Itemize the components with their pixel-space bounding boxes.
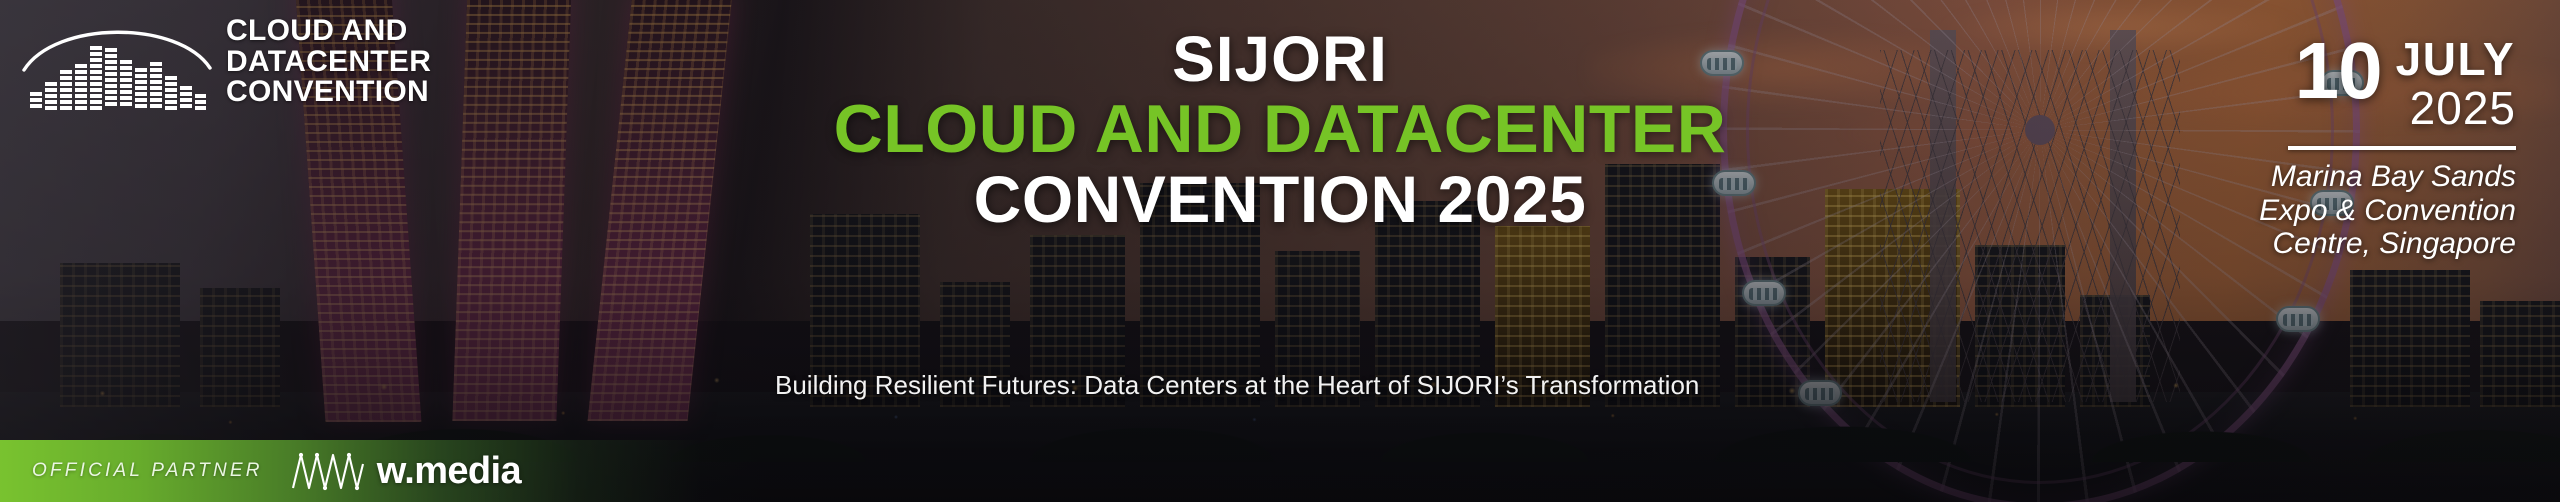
- venue-line-3: Centre, Singapore: [2046, 227, 2516, 261]
- event-venue: Marina Bay Sands Expo & Convention Centr…: [2046, 160, 2516, 261]
- event-year: 2025: [2410, 84, 2516, 132]
- wmedia-logo[interactable]: w.media: [289, 450, 521, 493]
- event-month: JULY: [2396, 36, 2516, 82]
- logo-line-2: DATACENTER: [226, 47, 431, 78]
- skyline-bars-arc-icon: [22, 12, 212, 112]
- event-banner: CLOUD AND DATACENTER CONVENTION SIJORI C…: [0, 0, 2560, 502]
- logo-line-1: CLOUD AND: [226, 16, 431, 47]
- event-date: 10 JULY 2025: [2046, 34, 2516, 132]
- official-partner-bar: OFFICIAL PARTNER w.media: [0, 440, 760, 502]
- official-partner-label: OFFICIAL PARTNER: [32, 460, 263, 482]
- wmedia-wordmark: w.media: [377, 450, 521, 493]
- zigzag-wave-icon: [289, 450, 367, 492]
- divider-rule: [2288, 146, 2516, 150]
- event-day: 10: [2295, 34, 2382, 108]
- venue-line-1: Marina Bay Sands: [2046, 160, 2516, 194]
- venue-line-2: Expo & Convention: [2046, 194, 2516, 228]
- convention-logo[interactable]: CLOUD AND DATACENTER CONVENTION: [22, 12, 431, 112]
- convention-logo-wordmark: CLOUD AND DATACENTER CONVENTION: [226, 16, 431, 108]
- event-details-block: 10 JULY 2025 Marina Bay Sands Expo & Con…: [2046, 34, 2516, 261]
- headline-tagline: Building Resilient Futures: Data Centers…: [775, 368, 1775, 402]
- logo-line-3: CONVENTION: [226, 77, 431, 108]
